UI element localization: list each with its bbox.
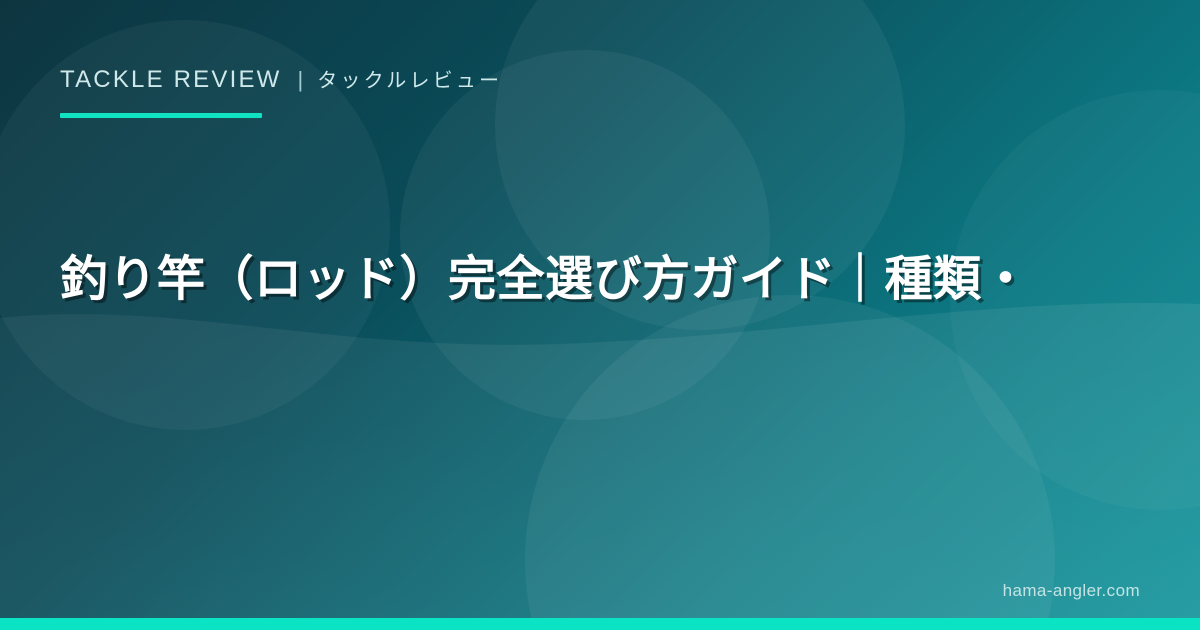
category-label: TACKLE REVIEW | タックルレビュー [60, 64, 1140, 94]
og-share-card: TACKLE REVIEW | タックルレビュー 釣り竿（ロッド）完全選び方ガイ… [0, 0, 1200, 630]
bottom-accent-bar [0, 618, 1200, 630]
headline-block: 釣り竿（ロッド）完全選び方ガイド｜種類・ [60, 248, 1140, 311]
accent-underline [60, 113, 262, 118]
category-separator: | [282, 67, 318, 93]
category-label-ja: タックルレビュー [317, 64, 502, 93]
card-content: TACKLE REVIEW | タックルレビュー 釣り竿（ロッド）完全選び方ガイ… [0, 0, 1200, 630]
category-block: TACKLE REVIEW | タックルレビュー [60, 64, 1140, 118]
page-title: 釣り竿（ロッド）完全選び方ガイド｜種類・ [60, 248, 1140, 311]
site-domain: hama-angler.com [1003, 581, 1140, 601]
category-label-en: TACKLE REVIEW [60, 66, 282, 94]
